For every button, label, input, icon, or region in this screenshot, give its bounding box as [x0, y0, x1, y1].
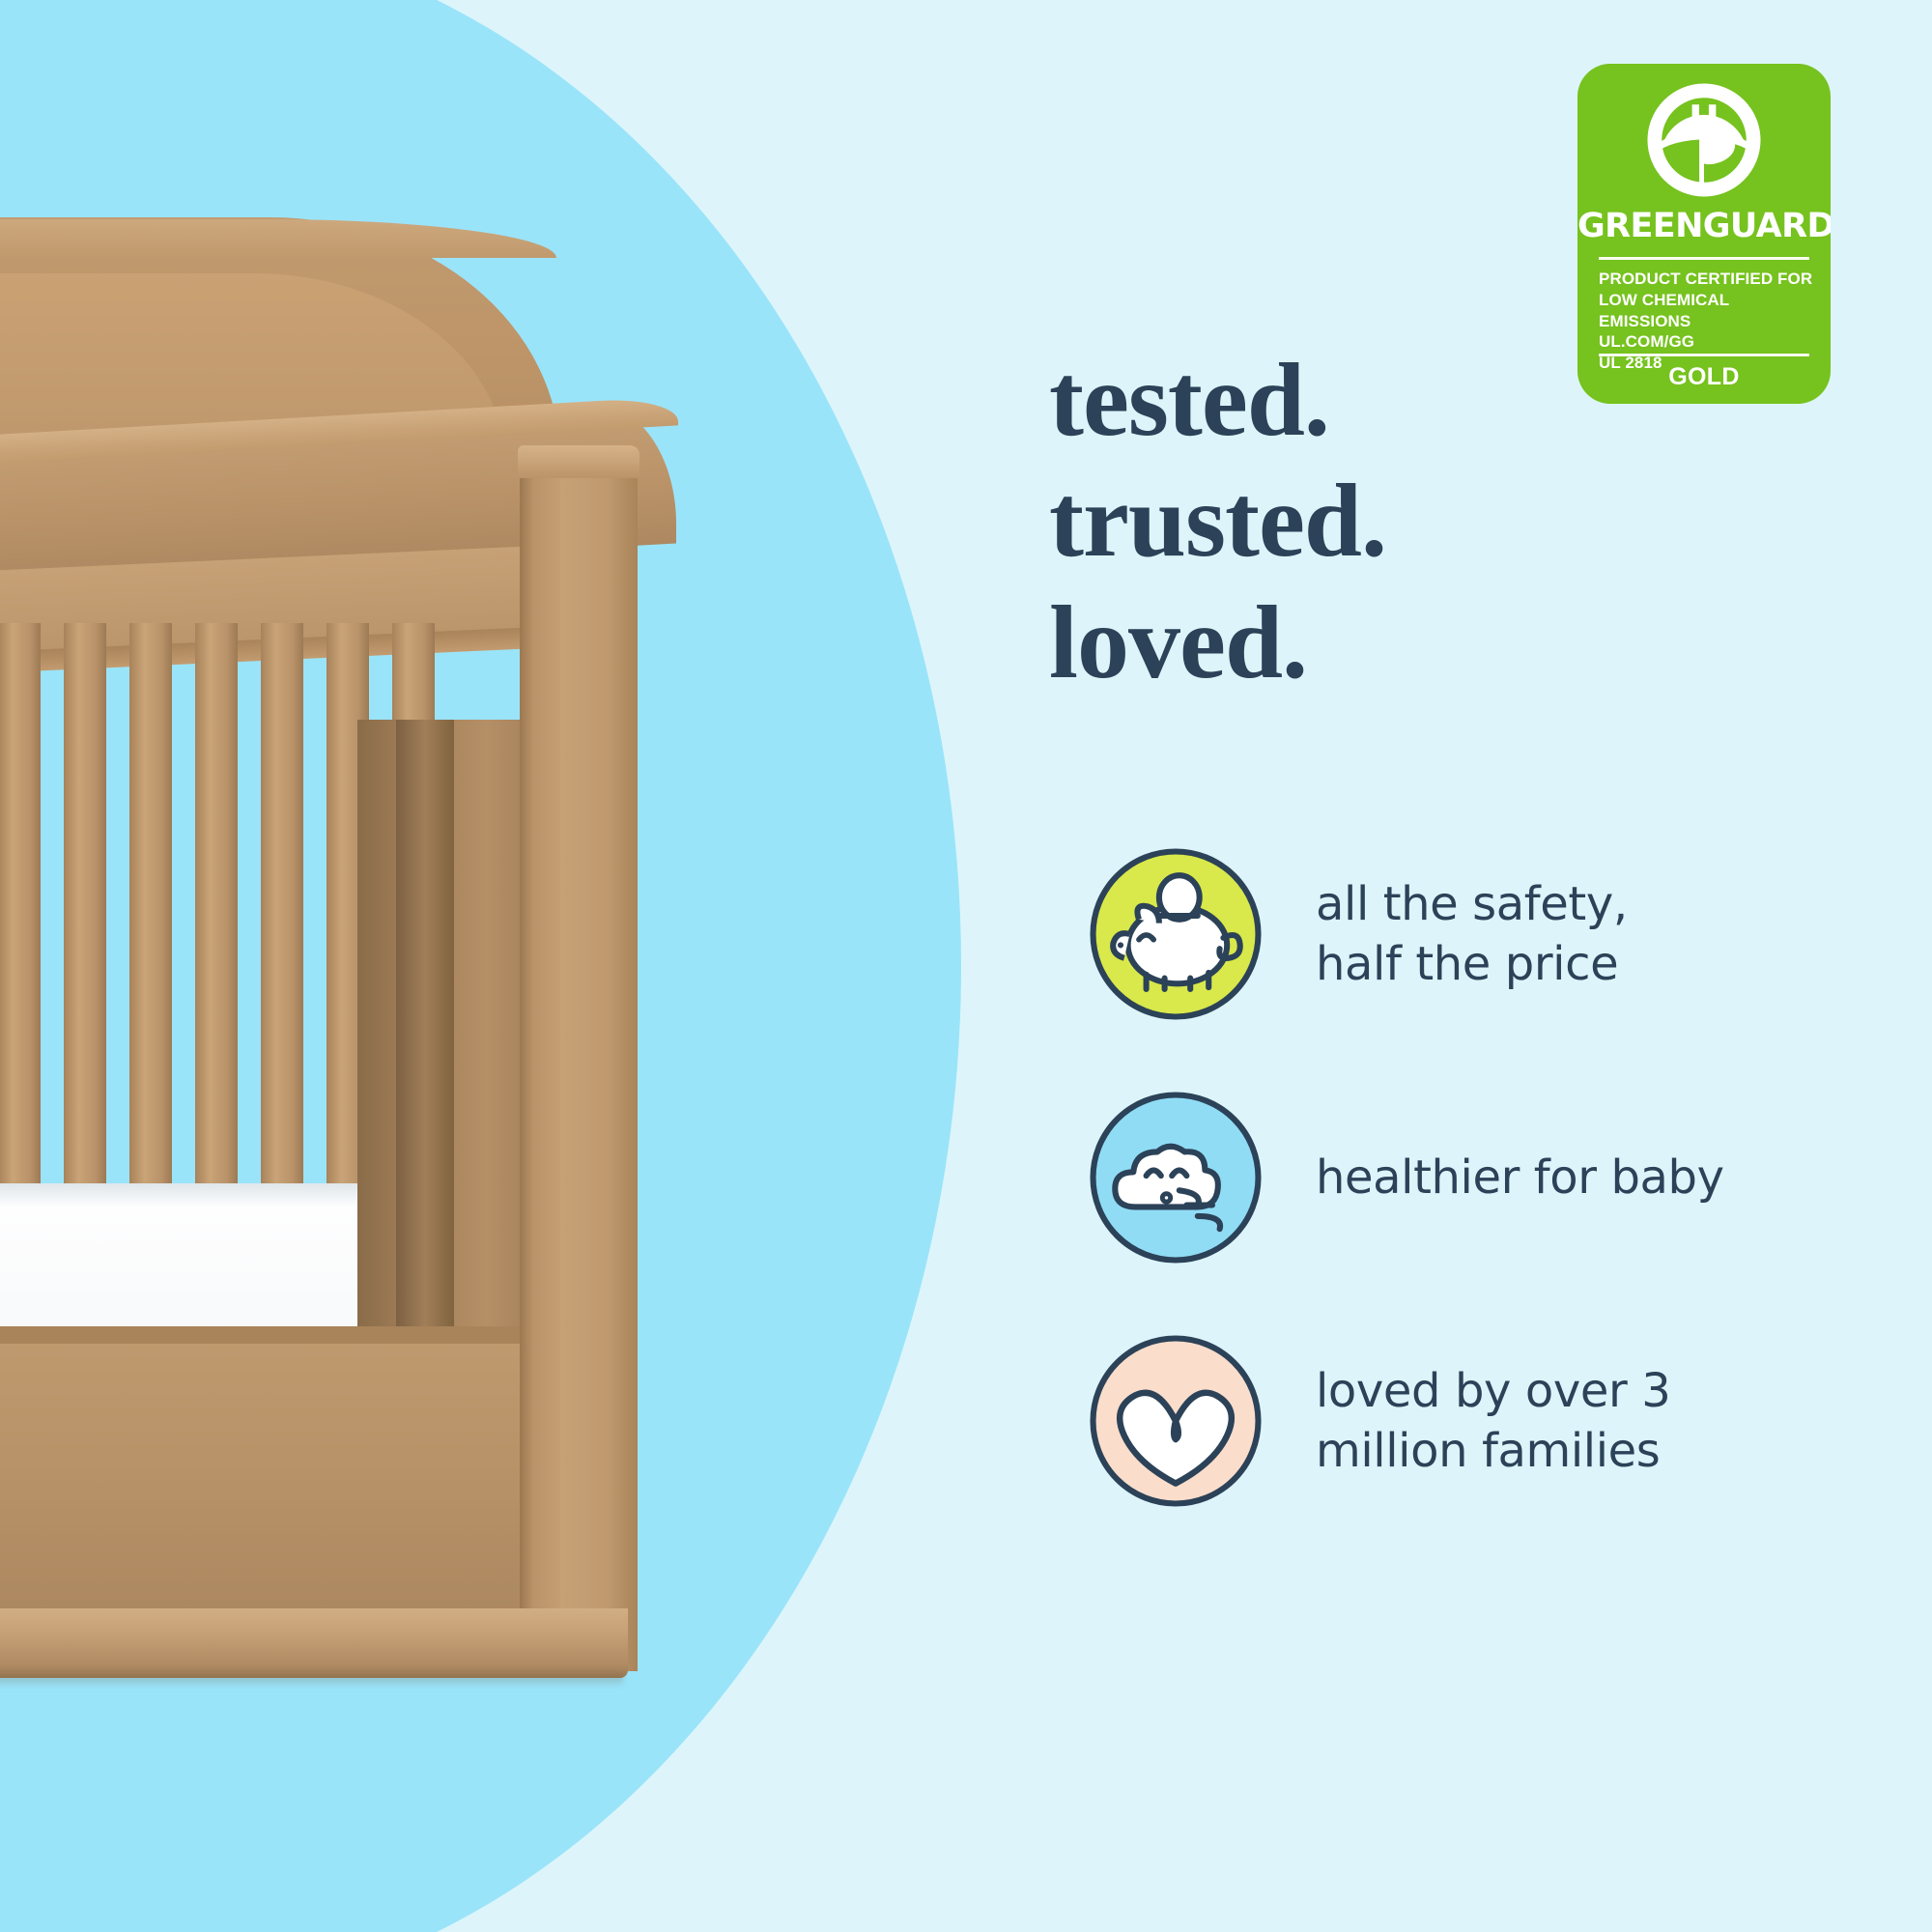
piggy-bank-icon [1084, 842, 1267, 1026]
crib-product-image [0, 217, 734, 1753]
feature-label: healthier for baby [1316, 1148, 1724, 1207]
feature-item-health: healthier for baby [1084, 1086, 1837, 1269]
badge-title: GREENGUARD [1577, 207, 1831, 245]
feature-list: all the safety, half the price healthier… [1084, 842, 1837, 1573]
crib-base-shadow [0, 1674, 623, 1688]
headline-line-2: trusted. [1049, 461, 1783, 582]
ul-certification-icon: U L [1647, 83, 1761, 197]
headline-line-3: loved. [1049, 582, 1783, 703]
crib-headboard-top-molding [0, 219, 556, 258]
headline-line-1: tested. [1049, 340, 1783, 461]
badge-divider [1599, 257, 1809, 260]
cloud-icon [1084, 1086, 1267, 1269]
promo-graphic: U L GREENGUARD PRODUCT CERTIFIED FOR LOW… [0, 0, 1932, 1932]
heart-icon [1084, 1329, 1267, 1513]
feature-label: loved by over 3 million families [1316, 1361, 1670, 1482]
crib-corner-post-face [560, 459, 638, 1671]
feature-label: all the safety, half the price [1316, 874, 1628, 995]
crib-base-molding [0, 1608, 628, 1678]
page-title: tested. trusted. loved. [1049, 340, 1783, 703]
feature-item-loved: loved by over 3 million families [1084, 1329, 1837, 1513]
crib-corner-post-cap [518, 445, 639, 478]
feature-item-price: all the safety, half the price [1084, 842, 1837, 1026]
